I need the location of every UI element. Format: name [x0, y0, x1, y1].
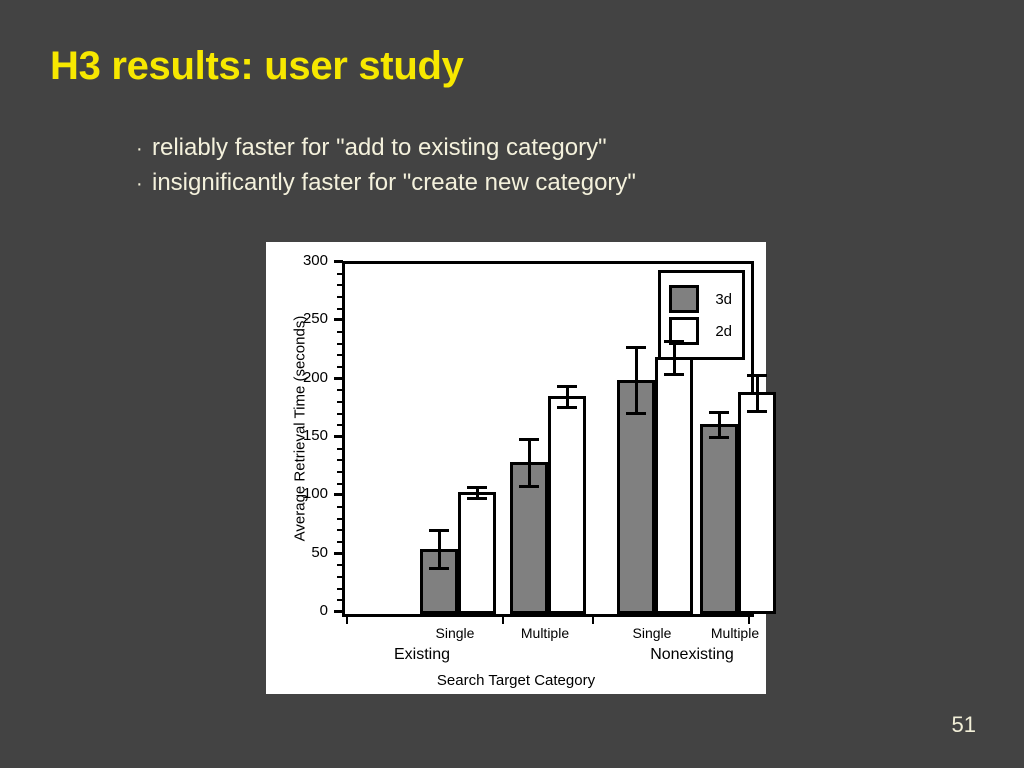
error-bar	[635, 346, 638, 415]
x-axis-label: Search Target Category	[266, 672, 766, 689]
error-cap-upper	[429, 529, 449, 532]
page-number: 51	[952, 712, 976, 738]
y-axis-tick-label: 0	[268, 602, 328, 619]
x-axis-group-label: Existing	[342, 646, 502, 664]
error-cap-upper	[557, 385, 577, 388]
bullet-text: reliably faster for "add to existing cat…	[152, 131, 607, 165]
y-axis-tick-label: 50	[268, 544, 328, 561]
bullet-marker-icon: ·	[136, 167, 152, 201]
error-cap-upper	[747, 374, 767, 377]
error-cap-lower	[747, 410, 767, 413]
y-axis-tick-label: 200	[268, 369, 328, 386]
error-cap-lower	[557, 406, 577, 409]
plot-area: 3d 2d	[342, 261, 754, 617]
list-item: · insignificantly faster for "create new…	[136, 166, 636, 201]
x-axis-tick	[502, 614, 504, 624]
x-axis-category-label: Multiple	[690, 625, 780, 641]
error-cap-upper	[626, 346, 646, 349]
error-bar	[528, 438, 531, 488]
error-bar	[438, 529, 441, 570]
y-axis-tick-label: 250	[268, 310, 328, 327]
slide: H3 results: user study · reliably faster…	[0, 0, 1024, 768]
error-bar	[673, 340, 676, 376]
x-axis-tick	[592, 614, 594, 624]
error-cap-upper	[664, 340, 684, 343]
error-cap-lower	[429, 567, 449, 570]
x-axis-category-label: Multiple	[500, 625, 590, 641]
y-axis-tick-label: 300	[268, 252, 328, 269]
error-cap-lower	[664, 373, 684, 376]
error-bar	[756, 374, 759, 414]
error-cap-upper	[467, 486, 487, 489]
y-axis-tick-label: 150	[268, 427, 328, 444]
y-axis-tick-label: 100	[268, 485, 328, 502]
error-cap-lower	[626, 412, 646, 415]
x-axis-category-label: Single	[410, 625, 500, 641]
bullet-text: insignificantly faster for "create new c…	[152, 166, 636, 200]
bullet-list: · reliably faster for "add to existing c…	[136, 131, 636, 201]
x-axis-tick	[748, 614, 750, 624]
error-cap-lower	[709, 436, 729, 439]
chart-panel: Average Retrieval Time (seconds) 0501001…	[266, 242, 766, 694]
error-cap-lower	[519, 485, 539, 488]
bullet-marker-icon: ·	[136, 132, 152, 166]
x-axis-group-label: Nonexisting	[612, 646, 772, 664]
page-title: H3 results: user study	[50, 44, 464, 89]
error-bar	[718, 411, 721, 439]
x-axis-tick	[346, 614, 348, 624]
chart-inner: Average Retrieval Time (seconds) 0501001…	[266, 242, 766, 694]
error-cap-lower	[467, 497, 487, 500]
error-bars-container	[345, 264, 751, 614]
error-cap-upper	[519, 438, 539, 441]
x-axis-category-label: Single	[607, 625, 697, 641]
list-item: · reliably faster for "add to existing c…	[136, 131, 636, 166]
error-cap-upper	[709, 411, 729, 414]
